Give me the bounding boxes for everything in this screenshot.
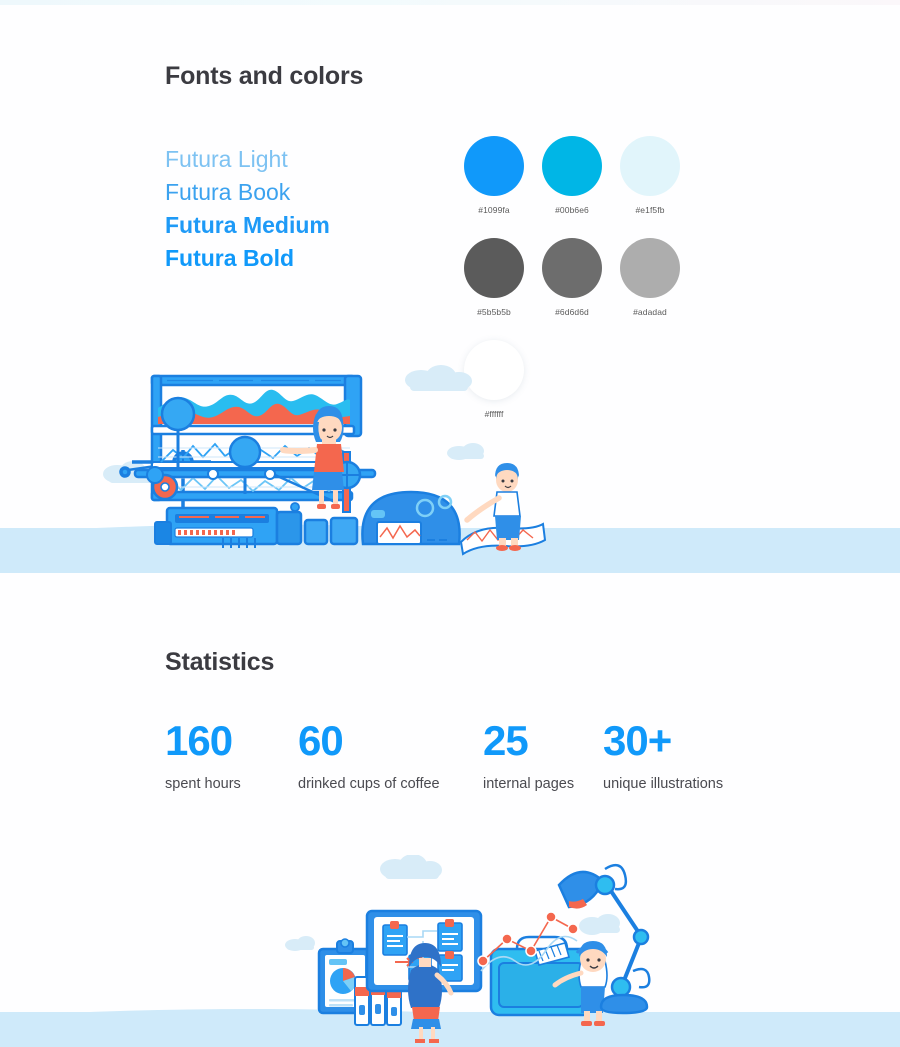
printer-console bbox=[155, 508, 357, 548]
swatch-circle bbox=[464, 136, 524, 196]
swatch-hex-label: #1099fa bbox=[455, 205, 533, 215]
swatch-5b5b5b[interactable]: #5b5b5b bbox=[455, 238, 533, 317]
stat-label: internal pages bbox=[483, 776, 574, 792]
stat-label: unique illustrations bbox=[603, 776, 723, 792]
swatch-circle bbox=[542, 238, 602, 298]
swatch-circle bbox=[620, 238, 680, 298]
swatch-1099fa[interactable]: #1099fa bbox=[455, 136, 533, 215]
workspace-illustration bbox=[285, 855, 675, 1047]
stat-value: 60 bbox=[298, 718, 440, 764]
design-showcase-page: Fonts and colors Futura Light Futura Boo… bbox=[0, 0, 900, 1047]
data-machine-illustration bbox=[95, 362, 565, 562]
statistics-title: Statistics bbox=[165, 648, 274, 677]
swatch-hex-label: #00b6e6 bbox=[533, 205, 611, 215]
font-sample-medium: Futura Medium bbox=[165, 209, 425, 242]
fonts-and-colors-title: Fonts and colors bbox=[165, 62, 363, 91]
stat-item-illustrations: 30+ unique illustrations bbox=[603, 718, 723, 792]
font-sample-light: Futura Light bbox=[165, 143, 425, 176]
swatch-hex-label: #e1f5fb bbox=[611, 205, 689, 215]
top-edge-strip bbox=[0, 0, 900, 5]
stat-label: drinked cups of coffee bbox=[298, 776, 440, 792]
swatch-adadad[interactable]: #adadad bbox=[611, 238, 689, 317]
font-sample-list: Futura Light Futura Book Futura Medium F… bbox=[165, 143, 425, 275]
swatch-hex-label: #5b5b5b bbox=[455, 307, 533, 317]
swatch-row-blues: #1099fa #00b6e6 #e1f5fb bbox=[455, 136, 695, 215]
stat-item-internal-pages: 25 internal pages bbox=[483, 718, 574, 792]
swatch-circle bbox=[620, 136, 680, 196]
font-sample-book: Futura Book bbox=[165, 176, 425, 209]
swatch-hex-label: #6d6d6d bbox=[533, 307, 611, 317]
swatch-circle bbox=[464, 238, 524, 298]
swatch-hex-label: #adadad bbox=[611, 307, 689, 317]
swatch-00b6e6[interactable]: #00b6e6 bbox=[533, 136, 611, 215]
stat-value: 30+ bbox=[603, 718, 723, 764]
dome-machine bbox=[362, 492, 459, 544]
sticky-note bbox=[383, 921, 407, 955]
stat-value: 25 bbox=[483, 718, 574, 764]
swatch-6d6d6d[interactable]: #6d6d6d bbox=[533, 238, 611, 317]
stat-value: 160 bbox=[165, 718, 241, 764]
font-sample-bold: Futura Bold bbox=[165, 242, 425, 275]
swatch-circle bbox=[542, 136, 602, 196]
swatch-row-grays: #5b5b5b #6d6d6d #adadad bbox=[455, 238, 695, 317]
sticky-note bbox=[438, 919, 462, 951]
swatch-e1f5fb[interactable]: #e1f5fb bbox=[611, 136, 689, 215]
stat-label: spent hours bbox=[165, 776, 241, 792]
stat-item-spent-hours: 160 spent hours bbox=[165, 718, 241, 792]
stat-item-coffee: 60 drinked cups of coffee bbox=[298, 718, 440, 792]
